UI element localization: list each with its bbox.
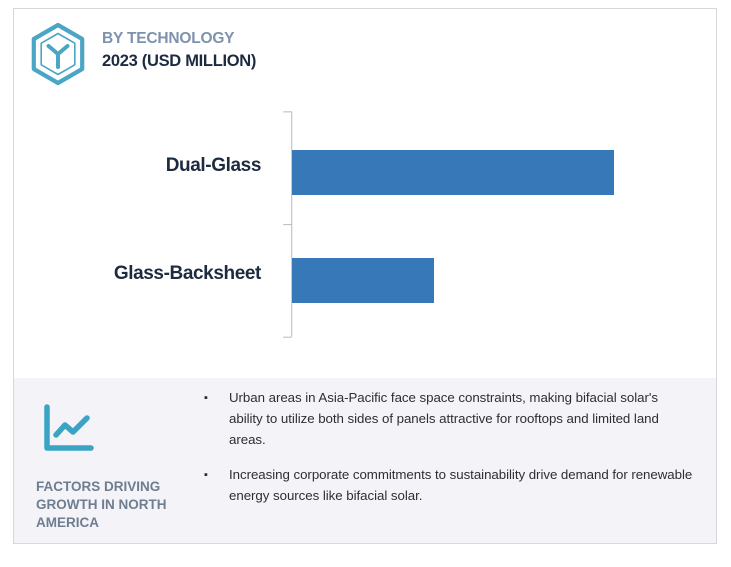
bullet-list: ▪ Urban areas in Asia-Pacific face space… — [204, 387, 694, 520]
chart-axis — [14, 95, 716, 378]
bullet-text: Urban areas in Asia-Pacific face space c… — [229, 387, 694, 450]
header-eyebrow: BY TECHNOLOGY — [102, 29, 256, 48]
trend-line-chart-icon — [41, 404, 97, 454]
bar-chart: Dual-Glass Glass-Backsheet — [14, 95, 716, 378]
infographic-card: BY TECHNOLOGY 2023 (USD MILLION) Dual-Gl… — [13, 8, 717, 544]
bar-glass-backsheet — [292, 258, 434, 303]
bullet-marker-icon: ▪ — [204, 464, 229, 486]
list-item: ▪ Urban areas in Asia-Pacific face space… — [204, 387, 694, 450]
category-label-dual-glass: Dual-Glass — [166, 155, 261, 177]
header: BY TECHNOLOGY 2023 (USD MILLION) — [14, 9, 716, 95]
bullet-text: Increasing corporate commitments to sust… — [229, 464, 694, 506]
page-title: 2023 (USD MILLION) — [102, 50, 256, 72]
bar-dual-glass — [292, 150, 614, 195]
factors-panel: FACTORS DRIVING GROWTH IN NORTH AMERICA … — [14, 378, 716, 544]
category-label-glass-backsheet: Glass-Backsheet — [114, 263, 261, 285]
panel-title: FACTORS DRIVING GROWTH IN NORTH AMERICA — [36, 478, 206, 532]
list-item: ▪ Increasing corporate commitments to su… — [204, 464, 694, 506]
header-text-block: BY TECHNOLOGY 2023 (USD MILLION) — [102, 29, 256, 72]
hexagon-y-logo-icon — [29, 22, 87, 86]
bullet-marker-icon: ▪ — [204, 387, 229, 409]
